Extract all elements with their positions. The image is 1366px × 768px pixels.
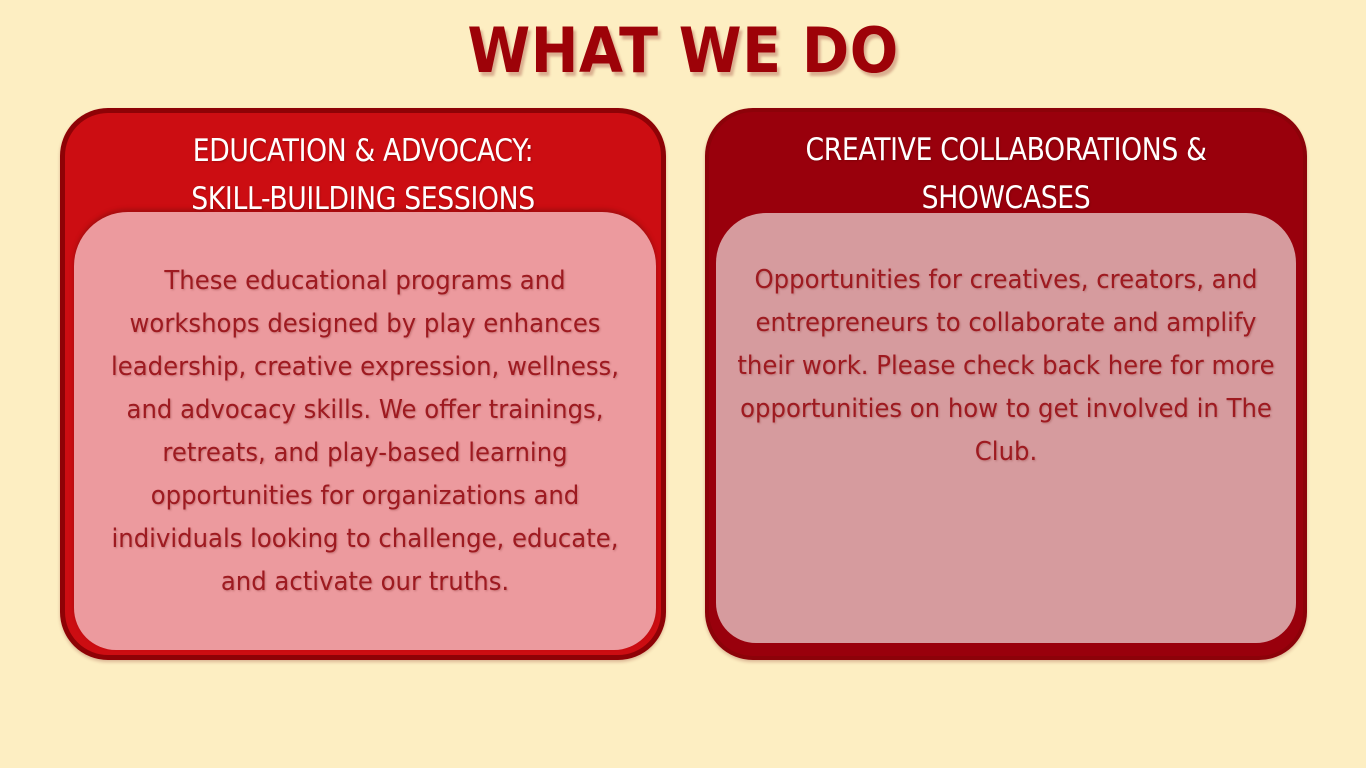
card-body-panel-creative-collaborations: Opportunities for creatives, creators, a… [716, 213, 1296, 643]
page-title: WHAT WE DO [55, 18, 1312, 83]
card-body-text-creative-collaborations: Opportunities for creatives, creators, a… [729, 213, 1283, 474]
card-body-text-education-advocacy: These educational programs and workshops… [87, 212, 643, 604]
card-header-creative-collaborations: CREATIVE COLLABORATIONS & SHOWCASES [751, 126, 1262, 222]
card-header-line: CREATIVE COLLABORATIONS & [751, 126, 1262, 174]
card-header-education-advocacy: EDUCATION & ADVOCACY: SKILL-BUILDING SES… [107, 127, 620, 223]
card-body-panel-education-advocacy: These educational programs and workshops… [74, 212, 656, 650]
card-header-line: EDUCATION & ADVOCACY: [107, 127, 620, 175]
